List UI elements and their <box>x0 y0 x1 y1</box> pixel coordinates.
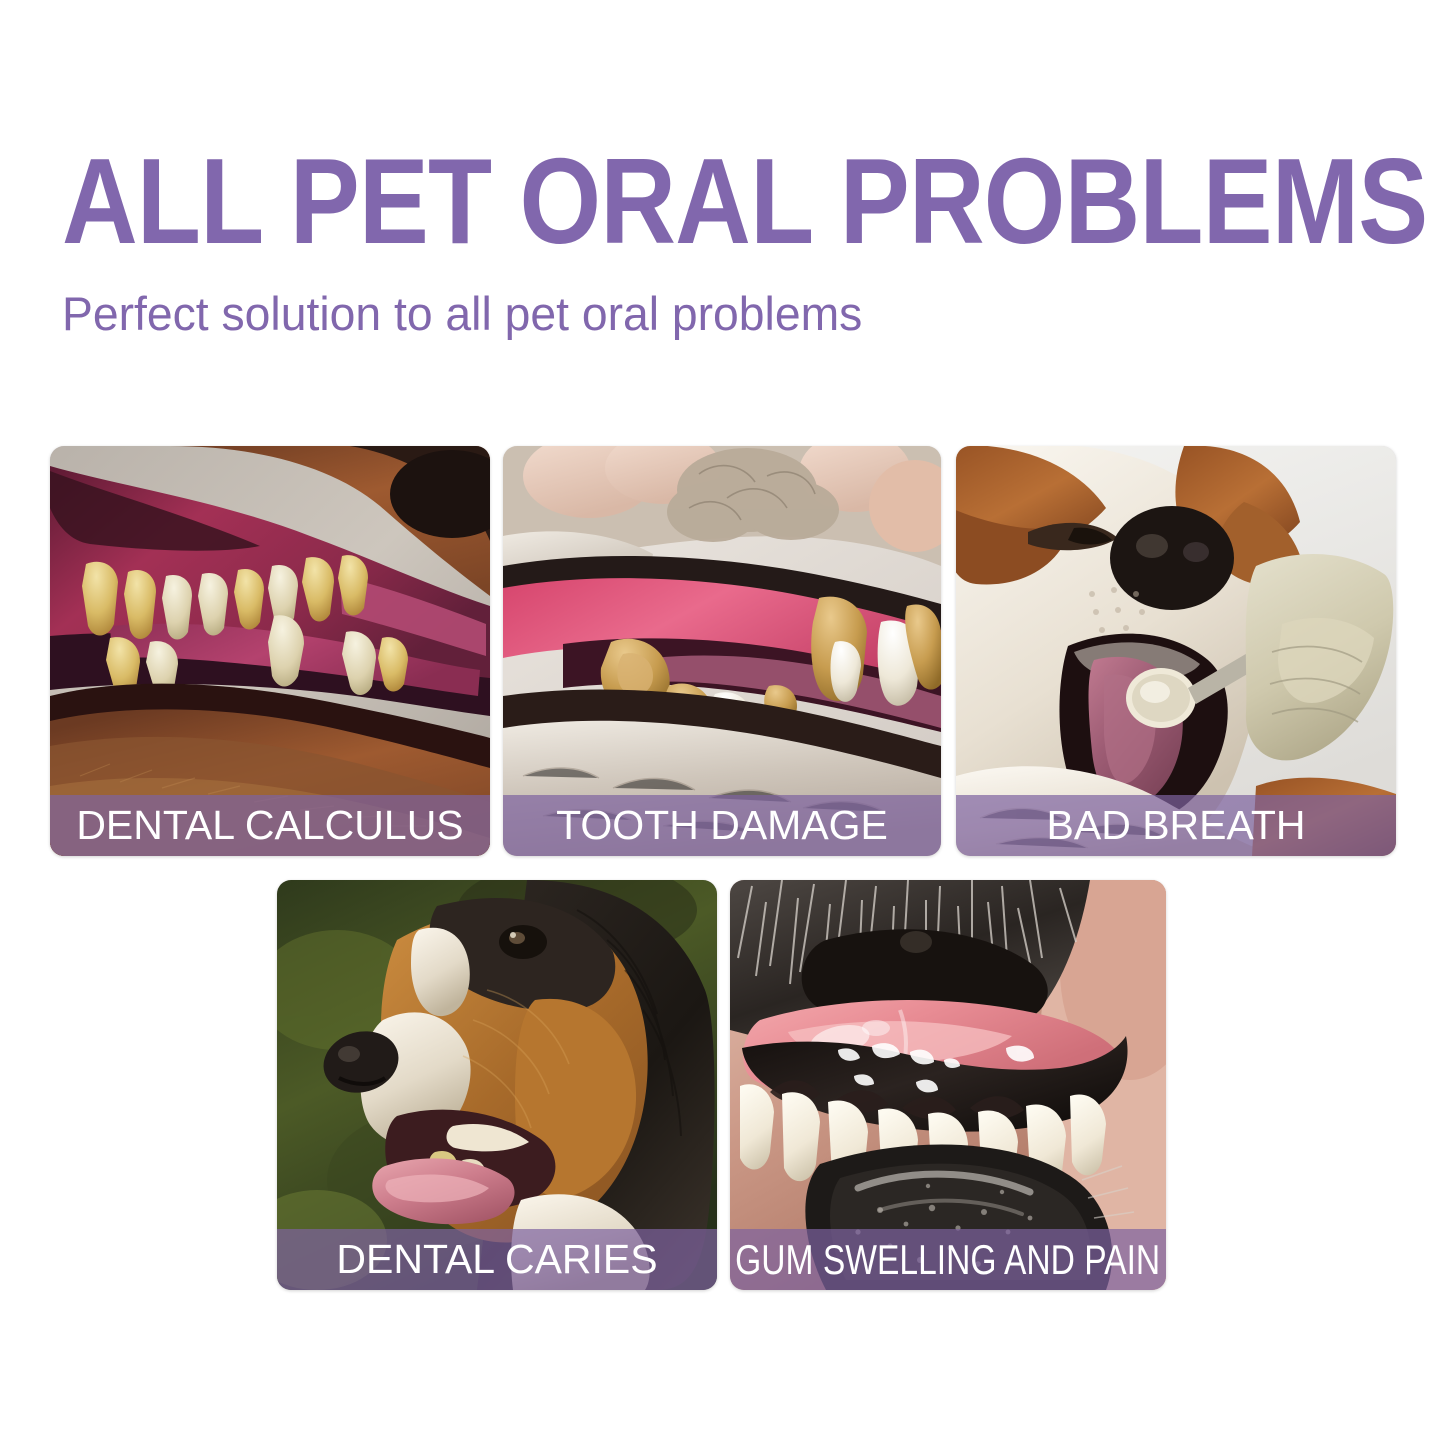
header: ALL PET ORAL PROBLEMS Perfect solution t… <box>62 140 1382 337</box>
page-subtitle: Perfect solution to all pet oral problem… <box>62 290 1362 337</box>
card-caption-label: DENTAL CARIES <box>336 1239 657 1280</box>
problem-card-bad-breath[interactable]: BAD BREATH <box>956 446 1396 856</box>
card-caption-bar: DENTAL CARIES <box>277 1229 717 1290</box>
page-title: ALL PET ORAL PROBLEMS <box>62 140 1197 262</box>
card-caption-bar: TOOTH DAMAGE <box>503 795 941 856</box>
card-caption-label: DENTAL CALCULUS <box>76 805 463 846</box>
problem-card-dental-calculus[interactable]: DENTAL CALCULUS <box>50 446 490 856</box>
card-caption-label: TOOTH DAMAGE <box>556 805 888 846</box>
card-caption-bar: DENTAL CALCULUS <box>50 795 490 856</box>
page-root: ALL PET ORAL PROBLEMS Perfect solution t… <box>0 0 1445 1445</box>
problem-card-gum-swelling-and-pain[interactable]: GUM SWELLING AND PAIN <box>730 880 1166 1290</box>
card-caption-bar: BAD BREATH <box>956 795 1396 856</box>
problem-card-dental-caries[interactable]: DENTAL CARIES <box>277 880 717 1290</box>
problem-card-tooth-damage[interactable]: TOOTH DAMAGE <box>503 446 941 856</box>
card-caption-bar: GUM SWELLING AND PAIN <box>730 1229 1166 1290</box>
card-caption-label: GUM SWELLING AND PAIN <box>735 1239 1160 1281</box>
card-caption-label: BAD BREATH <box>1047 805 1306 846</box>
